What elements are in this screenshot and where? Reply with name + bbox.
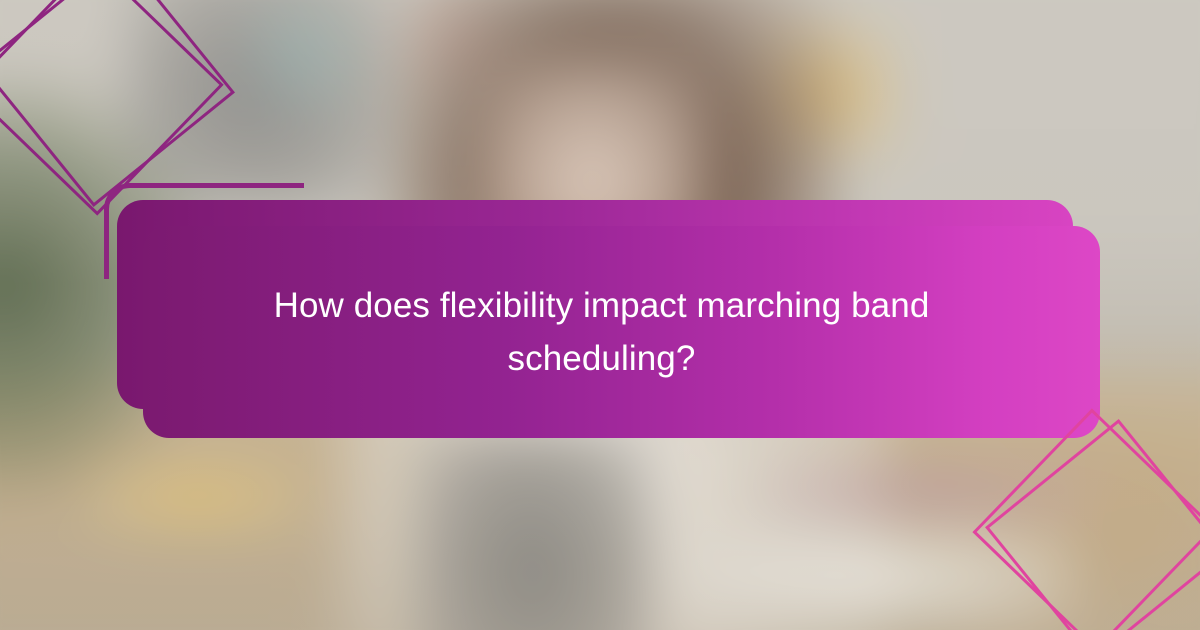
rotated-squares-bottom-right xyxy=(990,428,1200,630)
banner-canvas: How does flexibility impact marching ban… xyxy=(0,0,1200,630)
headline-text: How does flexibility impact marching ban… xyxy=(222,279,982,385)
square-outline-icon xyxy=(985,419,1200,630)
headline-card: How does flexibility impact marching ban… xyxy=(143,226,1100,438)
